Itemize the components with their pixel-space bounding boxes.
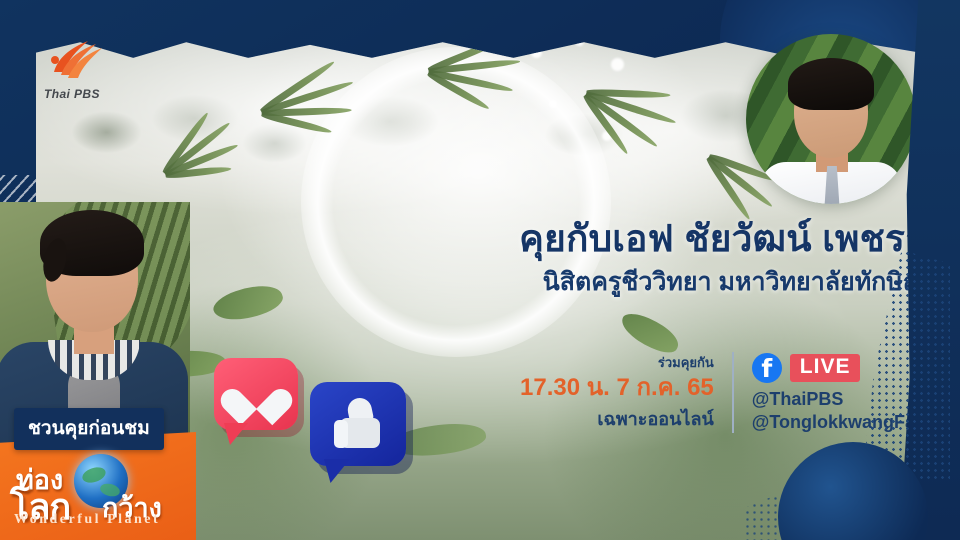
heart-reaction-bubble — [214, 358, 298, 430]
thumbs-up-icon — [334, 398, 382, 450]
facebook-icon[interactable]: f — [752, 353, 782, 383]
join-label: ร่วมคุยกัน — [520, 352, 714, 373]
page-title: คุยกับเอฟ ชัยวัฒน์ เพชรา — [330, 218, 926, 259]
guest-portrait — [746, 34, 916, 204]
pre-show-badge: ชวนคุยก่อนชม — [14, 408, 164, 450]
thai-pbs-logo-text: Thai PBS — [44, 87, 106, 101]
host-hair — [40, 210, 144, 276]
guest-hair — [788, 58, 874, 110]
schedule-block: ร่วมคุยกัน 17.30 น. 7 ก.ค. 65 เฉพาะออนไล… — [520, 352, 734, 433]
live-badge: LIVE — [790, 354, 861, 382]
program-branding: ชวนคุยก่อนชม ท่อง โลก กว้าง Wonderful Pl… — [0, 400, 196, 540]
program-logo: ท่อง โลก กว้าง Wonderful Planet — [10, 456, 190, 528]
program-logo-english: Wonderful Planet — [14, 512, 160, 528]
like-reaction-bubble — [310, 382, 406, 466]
page-subtitle: นิสิตครูชีววิทยา มหาวิทยาลัยทักษิณ — [330, 267, 926, 297]
thai-pbs-bird-icon — [44, 38, 106, 86]
headline-block: คุยกับเอฟ ชัยวัฒน์ เพชรา นิสิตครูชีววิทย… — [330, 218, 926, 297]
broadcast-datetime: 17.30 น. 7 ก.ค. 65 — [520, 375, 714, 402]
thai-pbs-logo: Thai PBS — [44, 38, 106, 101]
bokeh-dot — [549, 100, 557, 108]
online-only-note: เฉพาะออนไลน์ — [520, 404, 714, 433]
promo-graphic: Thai PBS คุยกับเอฟ ชัยวัฒน์ เพชรา นิสิตค… — [0, 0, 960, 540]
bokeh-dot — [611, 58, 624, 71]
broadcast-info: ร่วมคุยกัน 17.30 น. 7 ก.ค. 65 เฉพาะออนไล… — [520, 352, 926, 433]
facebook-glyph: f — [752, 355, 782, 382]
heart-icon — [234, 374, 278, 414]
